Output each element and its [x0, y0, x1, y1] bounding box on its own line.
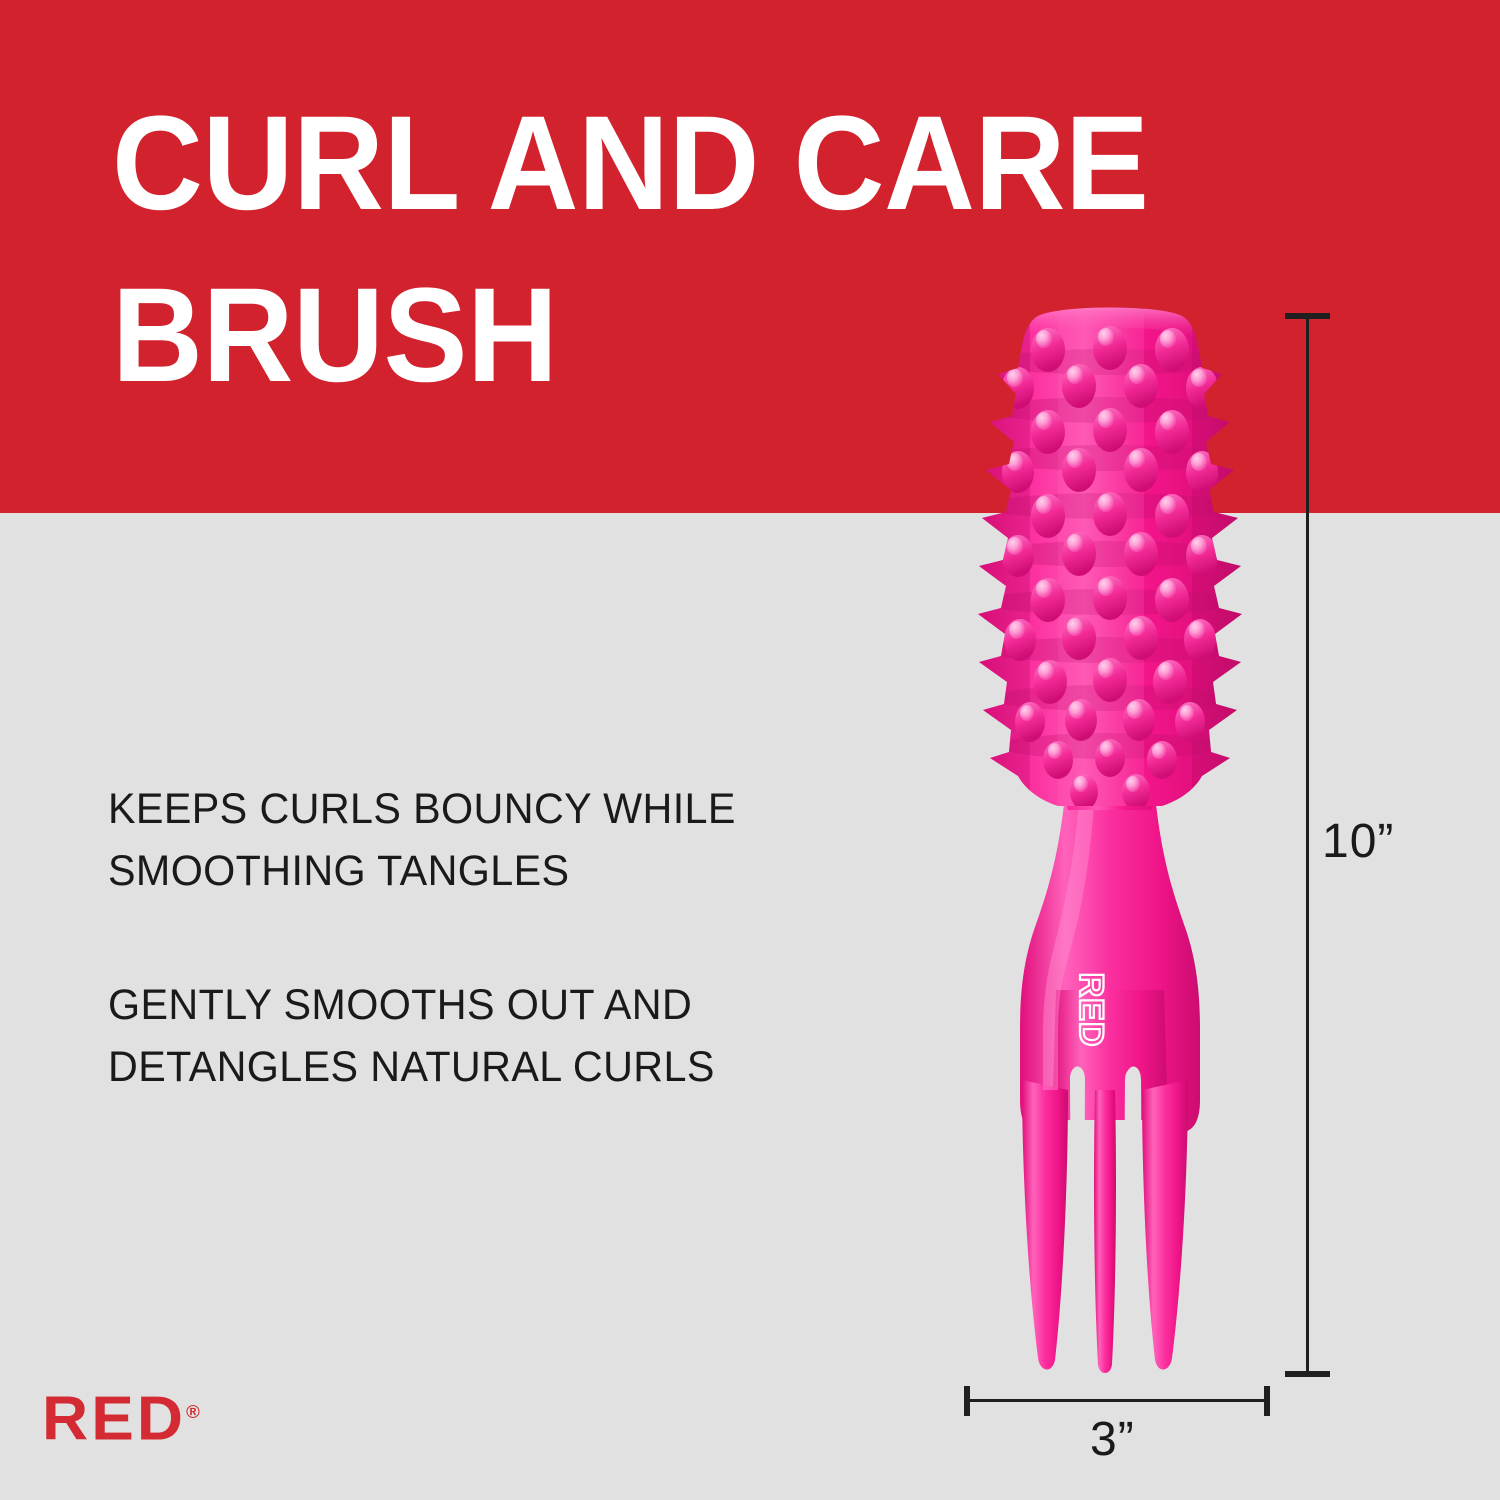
registered-trademark-icon: ® — [186, 1402, 200, 1422]
width-dimension-line — [965, 1399, 1268, 1402]
brush-handle-group: RED — [1020, 760, 1200, 1373]
brush-prong-gap-right — [1122, 1067, 1141, 1351]
height-dimension-label: 10” — [1322, 818, 1394, 866]
width-dimension-label: 3” — [1090, 1416, 1135, 1464]
brush-bristle-field — [970, 301, 1252, 810]
bristle-row-9 — [1033, 658, 1187, 704]
brush-head-group — [970, 301, 1252, 810]
height-dimension-line — [1306, 314, 1309, 1376]
brush-prong-2 — [1094, 1090, 1116, 1373]
bristle-row-3 — [1031, 408, 1189, 454]
brush-prong-3 — [1142, 1080, 1188, 1370]
bristle-row-11 — [1043, 739, 1177, 779]
brush-prong-1 — [1022, 1080, 1068, 1370]
brush-svg: RED — [930, 290, 1290, 1390]
brand-logo-text: RED — [42, 1385, 186, 1454]
height-dimension-cap-bottom — [1285, 1371, 1330, 1377]
infographic-canvas: CURL AND CARE BRUSH KEEPS CURLS BOUNCY W… — [0, 0, 1500, 1500]
bristle-row-7 — [1031, 576, 1189, 622]
feature-item-1: KEEPS CURLS BOUNCY WHILE SMOOTHING TANGL… — [108, 778, 876, 902]
feature-list: KEEPS CURLS BOUNCY WHILE SMOOTHING TANGL… — [108, 778, 908, 1170]
width-dimension-cap-right — [1264, 1386, 1270, 1416]
brand-logo: RED® — [42, 1381, 200, 1451]
handle-brand-text: RED — [1072, 973, 1110, 1048]
bristle-row-5 — [1031, 492, 1189, 538]
product-image-brush: RED — [930, 290, 1290, 1390]
feature-item-2: GENTLY SMOOTHS OUT AND DETANGLES NATURAL… — [108, 974, 876, 1098]
handle-brand-emboss: RED — [1072, 973, 1110, 1048]
bristle-row-1 — [1031, 326, 1189, 372]
